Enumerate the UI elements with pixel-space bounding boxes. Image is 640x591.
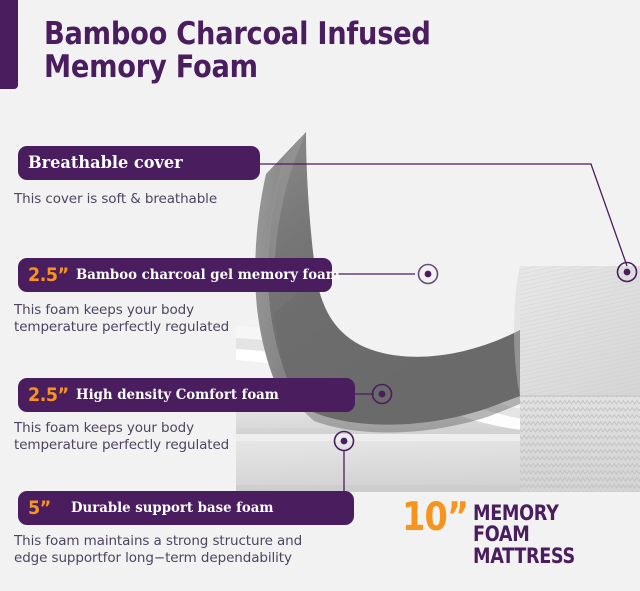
brand-product-name: MEMORY FOAM MATTRESS bbox=[473, 500, 612, 567]
page-title: Bamboo Charcoal Infused Memory Foam bbox=[44, 18, 458, 85]
brand-size-label: 10” bbox=[402, 500, 468, 536]
callout-label-high-density-comfort: High density Comfort foam bbox=[76, 387, 279, 403]
layer-knit-cover bbox=[514, 266, 640, 492]
callout-badge-breathable-cover[interactable]: Breathable cover bbox=[18, 146, 260, 180]
callout-size-durable-support-base: 5” bbox=[28, 497, 51, 519]
callout-label-durable-support-base: Durable support base foam bbox=[71, 500, 273, 516]
callout-label-breathable-cover: Breathable cover bbox=[28, 153, 183, 173]
callout-label-bamboo-charcoal-gel: Bamboo charcoal gel memory foam bbox=[76, 267, 340, 283]
infographic-canvas: Bamboo Charcoal Infused Memory Foam Brea… bbox=[0, 0, 640, 591]
callout-badge-high-density-comfort[interactable]: 2.5” High density Comfort foam bbox=[18, 378, 355, 412]
dot-bamboo-charcoal-gel bbox=[419, 265, 438, 284]
callout-description-breathable-cover: This cover is soft & breathable bbox=[14, 191, 264, 208]
brand-lockup: 10” MEMORY FOAM MATTRESS bbox=[402, 500, 638, 567]
callout-badge-durable-support-base[interactable]: 5” Durable support base foam bbox=[18, 491, 354, 525]
callout-description-bamboo-charcoal-gel: This foam keeps your body temperature pe… bbox=[14, 302, 284, 337]
callout-badge-bamboo-charcoal-gel[interactable]: 2.5” Bamboo charcoal gel memory foam bbox=[18, 258, 332, 292]
callout-size-bamboo-charcoal-gel: 2.5” bbox=[28, 264, 69, 286]
callout-size-high-density-comfort: 2.5” bbox=[28, 384, 69, 406]
header-accent-bar bbox=[0, 0, 18, 89]
callout-description-durable-support-base: This foam maintains a strong structure a… bbox=[14, 533, 354, 568]
callout-description-high-density-comfort: This foam keeps your body temperature pe… bbox=[14, 420, 284, 455]
